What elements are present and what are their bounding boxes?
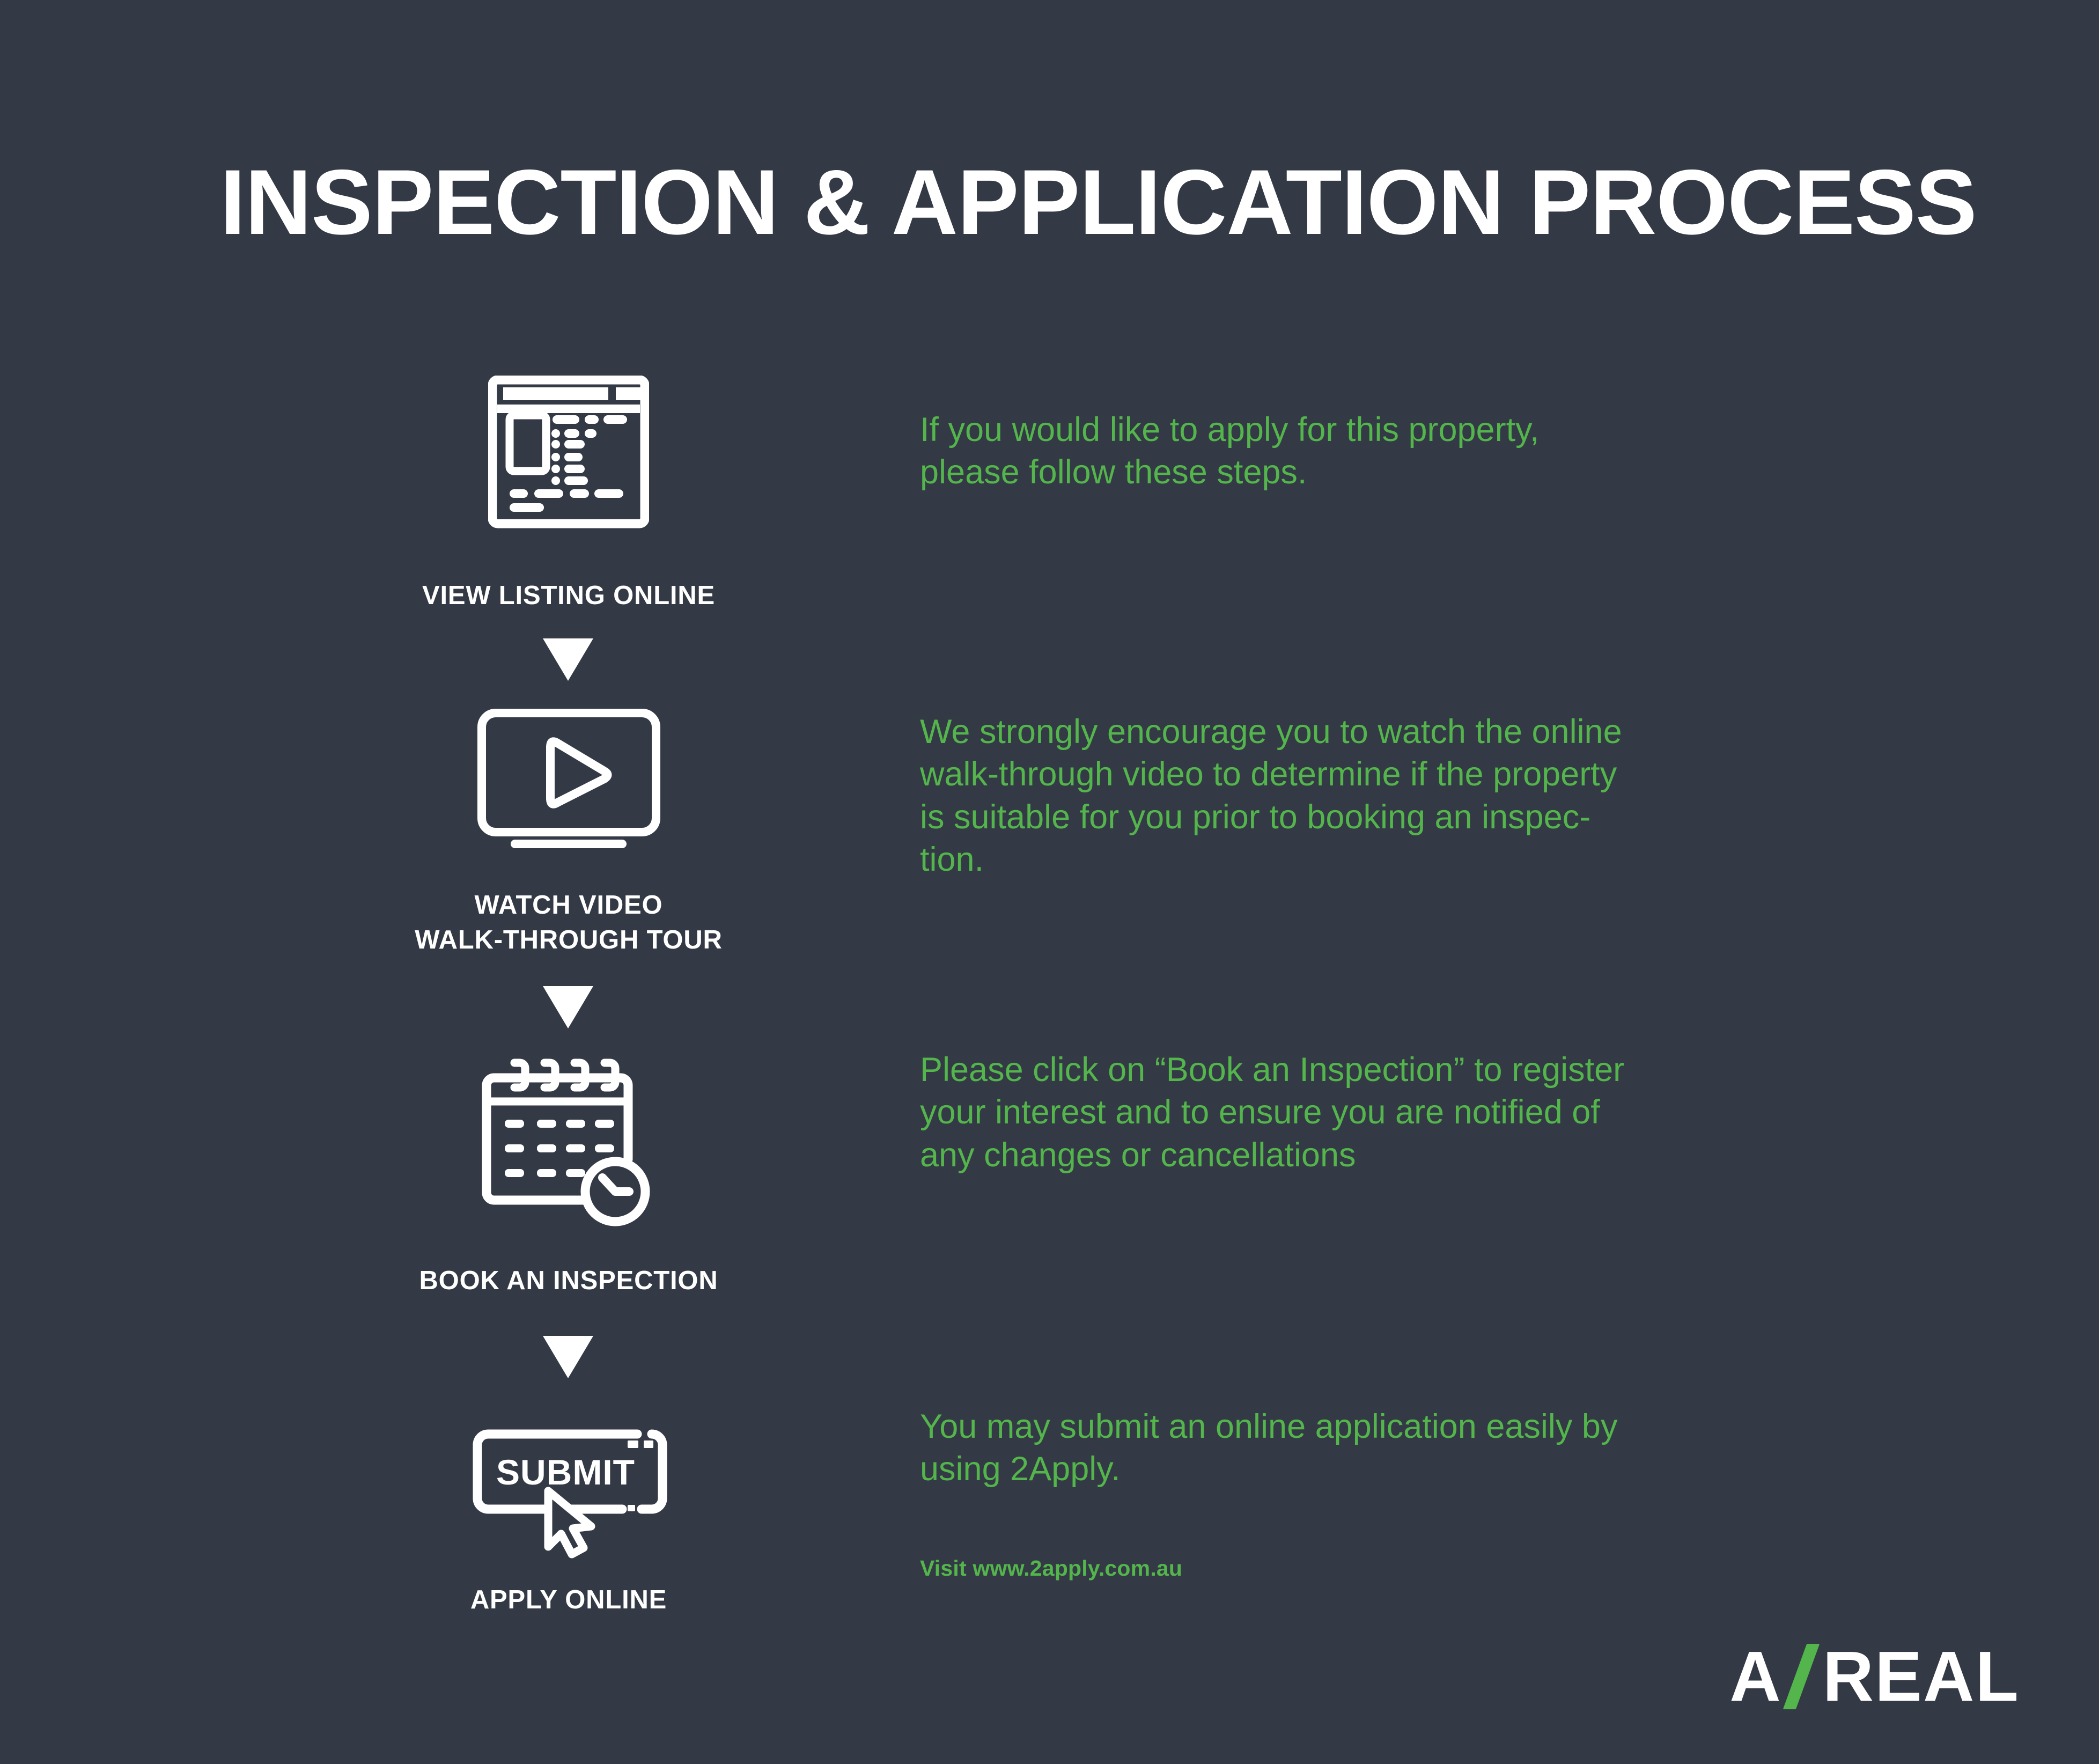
step-1-label-line-1: VIEW LISTING ONLINE <box>0 578 1137 613</box>
step-2-label-line-1: WATCH VIDEO <box>0 888 1137 923</box>
copy-line: using 2Apply. <box>920 1448 1902 1490</box>
infographic-page: INSPECTION & APPLICATION PROCESS <box>0 0 2099 1764</box>
logo-word-real: REAL <box>1823 1636 2020 1717</box>
copy-line: is suitable for you prior to booking an … <box>920 796 1902 839</box>
step-1-copy: If you would like to apply for this prop… <box>920 409 1902 494</box>
copy-line: any changes or cancellations <box>920 1134 1902 1177</box>
page-title: INSPECTION & APPLICATION PROCESS <box>220 156 1883 249</box>
submit-icon-text: SUBMIT <box>496 1452 635 1492</box>
browser-listing-icon <box>488 376 649 531</box>
step-2-label: WATCH VIDEO WALK-THROUGH TOUR <box>0 888 1137 957</box>
visit-note[interactable]: Visit www.2apply.com.au <box>920 1556 1182 1581</box>
copy-line: Please click on “Book an Inspection” to … <box>920 1049 1902 1091</box>
step-arrow-2 <box>543 986 593 1028</box>
logo-letter-a: A <box>1729 1636 1781 1717</box>
step-2-label-line-2: WALK-THROUGH TOUR <box>0 923 1137 958</box>
step-arrow-1 <box>543 638 593 681</box>
submit-button-cursor-icon: SUBMIT <box>467 1419 671 1561</box>
step-4-label: APPLY ONLINE <box>0 1583 1137 1618</box>
step-3-label-line-1: BOOK AN INSPECTION <box>0 1263 1137 1298</box>
slash-icon <box>1787 1645 1818 1708</box>
copy-line: You may submit an online application eas… <box>920 1406 1902 1448</box>
step-4-copy: You may submit an online application eas… <box>920 1406 1902 1491</box>
video-play-monitor-icon <box>476 705 661 856</box>
copy-line: We strongly encourage you to watch the o… <box>920 711 1902 753</box>
brand-logo: A REAL <box>1729 1636 2020 1717</box>
step-arrow-3 <box>543 1336 593 1378</box>
step-1-label: VIEW LISTING ONLINE <box>0 578 1137 613</box>
copy-line: your interest and to ensure you are noti… <box>920 1091 1902 1134</box>
copy-line: tion. <box>920 839 1902 881</box>
copy-line: If you would like to apply for this prop… <box>920 409 1902 451</box>
step-3-label: BOOK AN INSPECTION <box>0 1263 1137 1298</box>
step-2-copy: We strongly encourage you to watch the o… <box>920 711 1902 881</box>
step-4-label-line-1: APPLY ONLINE <box>0 1583 1137 1618</box>
copy-line: please follow these steps. <box>920 451 1902 494</box>
calendar-clock-icon <box>480 1054 657 1239</box>
step-3-copy: Please click on “Book an Inspection” to … <box>920 1049 1902 1177</box>
copy-line: walk-through video to determine if the p… <box>920 753 1902 796</box>
